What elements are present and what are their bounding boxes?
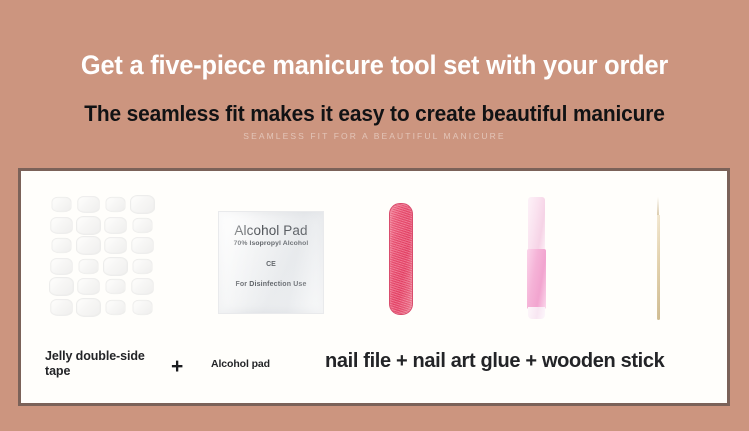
product-panel: Alcohol Pad 70% Isopropyl Alcohol CE For… <box>18 168 730 406</box>
headline-primary: Get a five-piece manicure tool set with … <box>22 50 726 81</box>
jelly-tape-image <box>49 195 155 317</box>
jelly-tab <box>77 278 100 295</box>
jelly-tab <box>132 259 152 274</box>
product-stage: Alcohol Pad 70% Isopropyl Alcohol CE For… <box>21 171 727 346</box>
pad-usage-text: For Disinfection Use <box>219 281 323 288</box>
jelly-tab <box>132 300 152 315</box>
label-alcohol-pad: Alcohol pad <box>211 358 270 370</box>
headline-secondary: The seamless fit makes it easy to create… <box>19 101 731 127</box>
jelly-tab <box>50 217 73 234</box>
jelly-tab <box>49 277 74 296</box>
stick-shaft <box>657 215 661 320</box>
glue-cap <box>528 197 545 253</box>
pad-strength-text: 70% Isopropyl Alcohol <box>219 240 323 247</box>
stick-tip <box>657 197 659 217</box>
caption-subtext: SEAMLESS FIT FOR A BEAUTIFUL MANICURE <box>0 131 749 141</box>
jelly-tab <box>104 217 127 234</box>
label-jelly-tape: Jelly double-side tape <box>45 349 157 379</box>
plus-separator-one: + <box>171 357 183 377</box>
glue-body <box>527 249 546 309</box>
jelly-tab <box>52 238 72 253</box>
jelly-tab <box>50 258 73 275</box>
promo-banner: Get a five-piece manicure tool set with … <box>0 0 749 431</box>
jelly-tab <box>105 300 125 315</box>
label-row: Jelly double-side tape + Alcohol pad nai… <box>21 340 727 403</box>
pad-certification-text: CE <box>219 261 323 268</box>
nail-file-image <box>389 203 413 315</box>
alcohol-pad-image: Alcohol Pad 70% Isopropyl Alcohol CE For… <box>218 211 324 314</box>
jelly-tab <box>77 196 100 213</box>
jelly-tab <box>130 195 155 214</box>
wooden-stick-image <box>655 197 662 320</box>
jelly-tab <box>50 299 73 316</box>
label-right-group: nail file + nail art glue + wooden stick <box>325 350 664 373</box>
jelly-tab <box>131 237 154 254</box>
glue-base <box>528 307 545 319</box>
jelly-tab <box>105 197 125 212</box>
jelly-tab <box>76 236 101 255</box>
jelly-tab <box>76 216 101 235</box>
jelly-tab <box>76 298 101 317</box>
jelly-tab <box>105 279 125 294</box>
jelly-tab <box>103 257 128 276</box>
jelly-tab <box>78 259 98 274</box>
pad-brand-text: Alcohol Pad <box>219 223 323 238</box>
jelly-tab <box>132 217 152 232</box>
jelly-tab <box>131 278 154 295</box>
jelly-tab <box>104 237 127 254</box>
nail-glue-image <box>527 197 546 319</box>
jelly-tab <box>52 197 72 212</box>
